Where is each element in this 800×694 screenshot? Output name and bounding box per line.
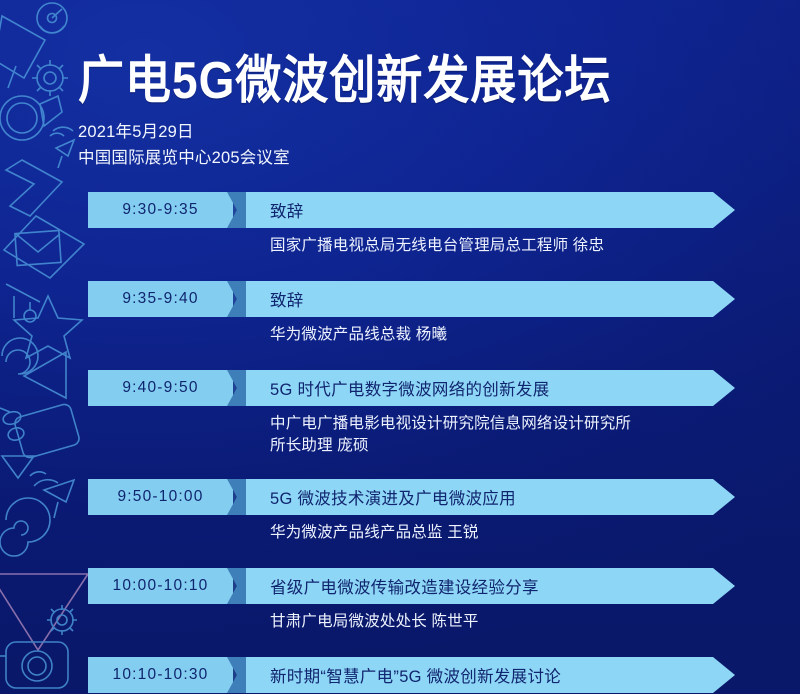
agenda-row: 10:10-10:30 新时期“智慧广电”5G 微波创新发展讨论 bbox=[0, 657, 800, 693]
agenda-title-bar: 致辞 bbox=[246, 192, 735, 228]
agenda-title-bar: 5G 微波技术演进及广电微波应用 bbox=[246, 479, 735, 515]
agenda-row: 9:30-9:35 致辞 国家广播电视总局无线电台管理局总工程师 徐忠 bbox=[0, 192, 800, 257]
agenda-time-label: 10:10-10:30 bbox=[113, 666, 209, 684]
agenda-session-title: 省级广电微波传输改造建设经验分享 bbox=[246, 574, 539, 598]
agenda-session-title: 新时期“智慧广电”5G 微波创新发展讨论 bbox=[246, 663, 561, 687]
agenda-row: 9:35-9:40 致辞 华为微波产品线总裁 杨曦 bbox=[0, 281, 800, 346]
agenda-title-bar: 省级广电微波传输改造建设经验分享 bbox=[246, 568, 735, 604]
agenda-title-bar: 5G 时代广电数字微波网络的创新发展 bbox=[246, 370, 735, 406]
agenda-speaker-line: 甘肃广电局微波处处长 陈世平 bbox=[270, 611, 800, 633]
poster-canvas: 广电5G微波创新发展论坛 2021年5月29日 中国国际展览中心205会议室 9… bbox=[0, 0, 800, 694]
subtitle-block: 2021年5月29日 中国国际展览中心205会议室 bbox=[78, 120, 611, 171]
gear-outline-icon bbox=[32, 60, 68, 96]
agenda-speaker-block: 甘肃广电局微波处处长 陈世平 bbox=[0, 604, 800, 633]
agenda-time-chip: 10:10-10:30 bbox=[88, 657, 233, 693]
agenda-row: 9:40-9:50 5G 时代广电数字微波网络的创新发展 中广电广播电影电视设计… bbox=[0, 370, 800, 457]
agenda-time-chip: 9:40-9:50 bbox=[88, 370, 233, 406]
agenda-speaker-line: 中广电广播电影电视设计研究院信息网络设计研究所 bbox=[270, 413, 800, 435]
agenda-time-label: 9:35-9:40 bbox=[122, 290, 198, 308]
agenda-session-title: 致辞 bbox=[246, 198, 304, 222]
agenda-row-bar: 9:50-10:00 5G 微波技术演进及广电微波应用 bbox=[0, 479, 800, 515]
agenda-speaker-line: 所长助理 庞硕 bbox=[270, 435, 800, 457]
agenda-speaker-block: 华为微波产品线产品总监 王锐 bbox=[0, 515, 800, 544]
agenda-row-bar: 9:35-9:40 致辞 bbox=[0, 281, 800, 317]
agenda-speaker-line: 华为微波产品线总裁 杨曦 bbox=[270, 324, 800, 346]
agenda-speaker-line: 国家广播电视总局无线电台管理局总工程师 徐忠 bbox=[270, 235, 800, 257]
agenda-title-bar: 致辞 bbox=[246, 281, 735, 317]
event-date: 2021年5月29日 bbox=[78, 120, 611, 146]
agenda-time-label: 10:00-10:10 bbox=[113, 577, 209, 595]
page-title: 广电5G微波创新发展论坛 bbox=[78, 50, 611, 111]
event-venue: 中国国际展览中心205会议室 bbox=[78, 146, 611, 172]
clock-outline-icon bbox=[37, 3, 67, 33]
agenda-session-title: 5G 时代广电数字微波网络的创新发展 bbox=[246, 376, 550, 400]
agenda-time-chip: 9:35-9:40 bbox=[88, 281, 233, 317]
agenda-row: 10:00-10:10 省级广电微波传输改造建设经验分享 甘肃广电局微波处处长 … bbox=[0, 568, 800, 633]
agenda-row-bar: 10:00-10:10 省级广电微波传输改造建设经验分享 bbox=[0, 568, 800, 604]
agenda-row-bar: 9:30-9:35 致辞 bbox=[0, 192, 800, 228]
agenda-time-label: 9:40-9:50 bbox=[122, 379, 198, 397]
agenda-session-title: 5G 微波技术演进及广电微波应用 bbox=[246, 485, 516, 509]
poster-header: 广电5G微波创新发展论坛 2021年5月29日 中国国际展览中心205会议室 bbox=[78, 50, 611, 171]
agenda-time-chip: 10:00-10:10 bbox=[88, 568, 233, 604]
satellite-dish-outline-icon bbox=[50, 127, 74, 168]
agenda-time-chip: 9:50-10:00 bbox=[88, 479, 233, 515]
agenda-time-label: 9:50-10:00 bbox=[117, 488, 203, 506]
agenda-speaker-block: 中广电广播电影电视设计研究院信息网络设计研究所 所长助理 庞硕 bbox=[0, 406, 800, 457]
agenda-title-bar: 新时期“智慧广电”5G 微波创新发展讨论 bbox=[246, 657, 735, 693]
agenda-row-bar: 10:10-10:30 新时期“智慧广电”5G 微波创新发展讨论 bbox=[0, 657, 800, 693]
agenda-session-title: 致辞 bbox=[246, 287, 304, 311]
agenda-speaker-line: 华为微波产品线产品总监 王锐 bbox=[270, 522, 800, 544]
agenda-row-bar: 9:40-9:50 5G 时代广电数字微波网络的创新发展 bbox=[0, 370, 800, 406]
agenda-speaker-block: 华为微波产品线总裁 杨曦 bbox=[0, 317, 800, 346]
agenda-list: 9:30-9:35 致辞 国家广播电视总局无线电台管理局总工程师 徐忠 9:35… bbox=[0, 192, 800, 693]
agenda-speaker-block: 国家广播电视总局无线电台管理局总工程师 徐忠 bbox=[0, 228, 800, 257]
agenda-row: 9:50-10:00 5G 微波技术演进及广电微波应用 华为微波产品线产品总监 … bbox=[0, 479, 800, 544]
agenda-time-chip: 9:30-9:35 bbox=[88, 192, 233, 228]
chevron-arrow-outline-icon bbox=[0, 16, 45, 88]
agenda-time-label: 9:30-9:35 bbox=[122, 201, 198, 219]
